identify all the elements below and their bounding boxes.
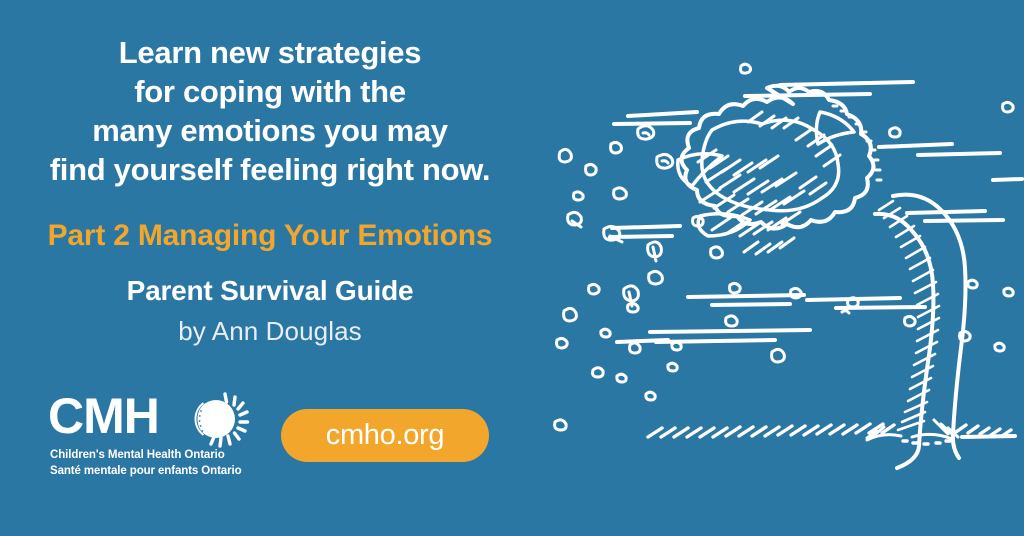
cmho-logo: CMH	[48, 391, 263, 487]
cmho-org-button[interactable]: cmho.org	[281, 409, 489, 462]
foliage-hatching	[698, 112, 840, 254]
part-label: Part 2 Managing Your Emotions	[0, 219, 540, 253]
tree-foliage	[678, 86, 881, 254]
sun-disc	[197, 400, 235, 438]
blowing-leaves	[555, 64, 1024, 430]
logo-wordmark: CMH	[48, 391, 159, 441]
tree-trunk	[875, 195, 966, 468]
ground-hatching	[648, 424, 1011, 444]
wind-streak-lines	[610, 82, 1022, 437]
cmho-org-button-label: cmho.org	[326, 421, 445, 450]
headline-line-2: for coping with the	[0, 72, 540, 111]
promotional-banner: Learn new strategies for coping with the…	[0, 0, 1024, 536]
guide-title: Parent Survival Guide	[0, 275, 540, 307]
branch-bead-texture	[833, 106, 881, 180]
sun-moon-icon	[188, 389, 250, 449]
headline-line-3: many emotions you may	[0, 111, 540, 150]
trunk-hatching	[879, 201, 939, 430]
tree-root-flare	[867, 420, 958, 440]
headline-line-4: find yourself feeling right now.	[0, 150, 540, 189]
headline-line-1: Learn new strategies	[0, 33, 540, 72]
headline: Learn new strategies for coping with the…	[0, 33, 540, 189]
author-byline: by Ann Douglas	[0, 316, 540, 347]
logo-tagline-en: Children's Mental Health Ontario	[50, 447, 242, 463]
logo-tagline: Children's Mental Health Ontario Santé m…	[50, 447, 242, 479]
logo-tagline-fr: Santé mentale pour enfants Ontario	[50, 463, 242, 479]
